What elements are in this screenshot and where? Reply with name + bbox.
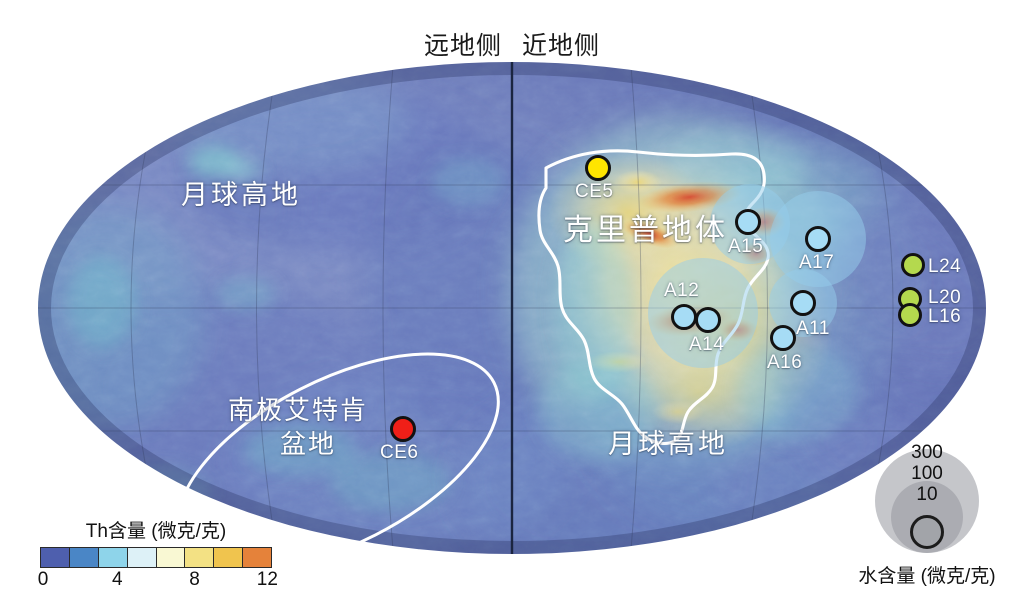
th-band-5 [185, 548, 214, 567]
water-legend-value-10: 10 [916, 485, 937, 504]
site-marker-A17[interactable] [805, 226, 831, 252]
site-marker-A11[interactable] [790, 290, 816, 316]
th-tick-0: 0 [38, 569, 49, 591]
site-marker-L24[interactable] [901, 253, 925, 277]
th-band-6 [214, 548, 243, 567]
site-marker-L16[interactable] [898, 303, 922, 327]
water-legend-bubbles: 300 100 10 [836, 443, 1018, 555]
water-bubble-10 [910, 515, 944, 549]
site-marker-A15[interactable] [735, 209, 761, 235]
water-legend-value-100: 100 [911, 464, 943, 483]
th-tick-4: 4 [112, 569, 123, 591]
nearside-caption: 近地侧 [522, 32, 600, 60]
water-legend-title: 水含量 (微克/克) [858, 561, 995, 588]
th-colorbar [40, 547, 272, 568]
th-band-3 [128, 548, 157, 567]
th-colorbar-ticks: 0 4 8 12 [40, 569, 272, 591]
site-marker-A12[interactable] [671, 304, 697, 330]
th-band-0 [41, 548, 70, 567]
th-band-4 [157, 548, 186, 567]
th-band-1 [70, 548, 99, 567]
th-band-7 [243, 548, 271, 567]
th-colorbar-legend: Th含量 (微克/克) 0 4 8 12 [40, 516, 272, 591]
hemisphere-labels: 远地侧 近地侧 [0, 26, 1024, 62]
th-legend-title: Th含量 (微克/克) [40, 516, 272, 543]
th-tick-12: 12 [257, 569, 278, 591]
figure-canvas: 远地侧 近地侧 [0, 0, 1024, 609]
th-band-2 [99, 548, 128, 567]
site-marker-CE6[interactable] [390, 416, 416, 442]
th-tick-8: 8 [189, 569, 200, 591]
site-marker-A16[interactable] [770, 325, 796, 351]
water-content-legend: 300 100 10 水含量 (微克/克) [836, 443, 1018, 593]
water-legend-value-300: 300 [911, 443, 943, 462]
site-marker-A14[interactable] [695, 307, 721, 333]
site-marker-CE5[interactable] [585, 155, 611, 181]
farside-caption: 远地侧 [424, 32, 502, 60]
